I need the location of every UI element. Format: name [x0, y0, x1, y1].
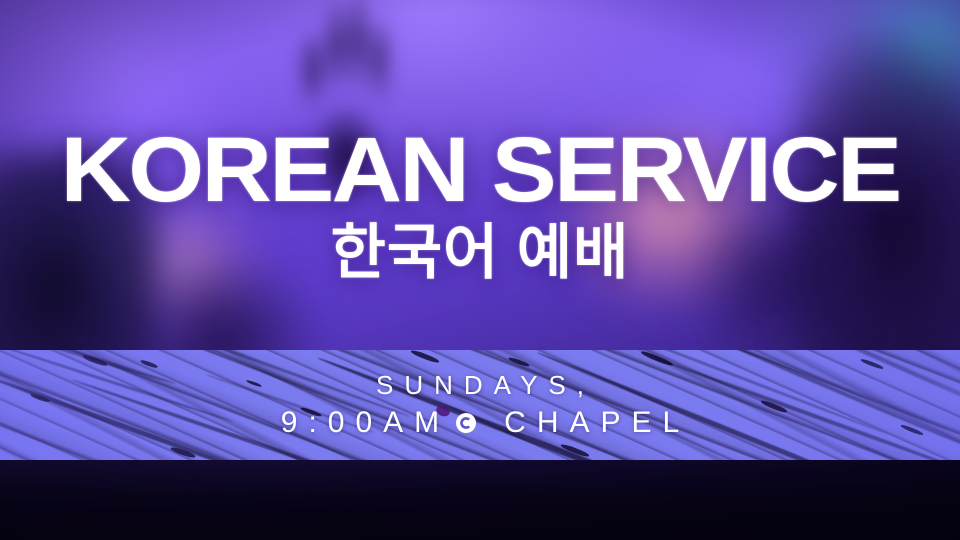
- headline-block: KOREAN SERVICE 한국어 예배: [0, 128, 960, 283]
- banner-line-time-location: 9:00AM CHAPEL: [270, 406, 690, 439]
- title-korean: 한국어 예배: [0, 223, 960, 283]
- copyright-circle-icon: [455, 412, 477, 434]
- service-location: CHAPEL: [493, 406, 690, 439]
- banner-text-group: SUNDAYS, 9:00AM CHAPEL: [0, 350, 960, 460]
- title-english: KOREAN SERVICE: [0, 128, 960, 213]
- service-info-banner: SUNDAYS, 9:00AM CHAPEL: [0, 350, 960, 460]
- service-time: 9:00AM: [270, 406, 450, 439]
- announcement-slide: KOREAN SERVICE 한국어 예배 SUNDAYS,: [0, 0, 960, 540]
- banner-line-day: SUNDAYS,: [365, 371, 595, 400]
